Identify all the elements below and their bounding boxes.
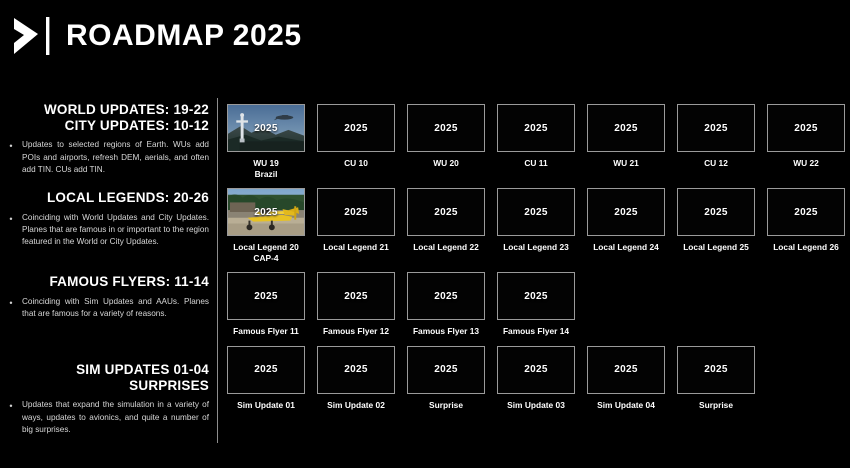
card-caption: Famous Flyer 11 bbox=[227, 326, 305, 337]
card-caption: Sim Update 01 bbox=[227, 400, 305, 411]
legend-body: • Updates that expand the simulation in … bbox=[0, 399, 213, 436]
card-year-label: 2025 bbox=[434, 123, 457, 134]
card-year-label: 2025 bbox=[794, 207, 817, 218]
legend-heading: LOCAL LEGENDS: 20-26 bbox=[0, 190, 213, 206]
card-year-label: 2025 bbox=[614, 123, 637, 134]
card-year-label: 2025 bbox=[704, 207, 727, 218]
card-caption: CU 11 bbox=[497, 158, 575, 169]
roadmap-row: 2025Famous Flyer 112025Famous Flyer 1220… bbox=[227, 272, 843, 337]
card-caption: CU 12 bbox=[677, 158, 755, 169]
legend-heading: FAMOUS FLYERS: 11-14 bbox=[0, 274, 213, 290]
legend-block-sim-updates-surprises: SIM UPDATES 01-04 SURPRISES • Updates th… bbox=[0, 362, 213, 436]
column-divider bbox=[217, 98, 218, 443]
card-caption: Local Legend 24 bbox=[587, 242, 665, 253]
card-caption: Famous Flyer 14 bbox=[497, 326, 575, 337]
card-year-label: 2025 bbox=[434, 291, 457, 302]
roadmap-card[interactable]: 2025Surprise bbox=[407, 346, 485, 411]
legend-column: WORLD UPDATES: 19-22 CITY UPDATES: 10-12… bbox=[0, 96, 213, 452]
card-thumbnail[interactable]: 2025 bbox=[227, 104, 305, 152]
card-year-label: 2025 bbox=[344, 291, 367, 302]
legend-description: Coinciding with World Updates and City U… bbox=[22, 212, 209, 249]
card-thumbnail[interactable]: 2025 bbox=[587, 346, 665, 394]
card-caption: Sim Update 04 bbox=[587, 400, 665, 411]
card-thumbnail[interactable]: 2025 bbox=[407, 104, 485, 152]
roadmap-card[interactable]: 2025Local Legend 20CAP-4 bbox=[227, 188, 305, 263]
page-title: ROADMAP 2025 bbox=[66, 21, 302, 51]
roadmap-card[interactable]: 2025WU 22 bbox=[767, 104, 845, 179]
card-year-label: 2025 bbox=[254, 291, 277, 302]
card-caption: Surprise bbox=[677, 400, 755, 411]
chevron-play-logo-icon bbox=[8, 14, 54, 58]
card-thumbnail[interactable]: 2025 bbox=[497, 272, 575, 320]
roadmap-row: 2025Sim Update 012025Sim Update 022025Su… bbox=[227, 346, 843, 411]
roadmap-card[interactable]: 2025CU 10 bbox=[317, 104, 395, 179]
roadmap-card[interactable]: 2025Local Legend 26 bbox=[767, 188, 845, 263]
card-year-label: 2025 bbox=[344, 207, 367, 218]
card-caption: Local Legend 26 bbox=[767, 242, 845, 253]
bullet-icon: • bbox=[0, 296, 22, 321]
roadmap-card[interactable]: 2025CU 11 bbox=[497, 104, 575, 179]
roadmap-card[interactable]: 2025Local Legend 24 bbox=[587, 188, 665, 263]
roadmap-card[interactable]: 2025WU 19Brazil bbox=[227, 104, 305, 179]
card-caption: CU 10 bbox=[317, 158, 395, 169]
roadmap-card[interactable]: 2025Famous Flyer 11 bbox=[227, 272, 305, 337]
card-thumbnail[interactable]: 2025 bbox=[317, 346, 395, 394]
legend-description: Coinciding with Sim Updates and AAUs. Pl… bbox=[22, 296, 209, 321]
card-year-label: 2025 bbox=[614, 364, 637, 375]
roadmap-card[interactable]: 2025Surprise bbox=[677, 346, 755, 411]
card-caption: Local Legend 25 bbox=[677, 242, 755, 253]
card-caption: Local Legend 21 bbox=[317, 242, 395, 253]
legend-heading: SIM UPDATES 01-04 SURPRISES bbox=[0, 362, 213, 393]
legend-heading-line: SIM UPDATES 01-04 bbox=[0, 362, 209, 378]
legend-heading: WORLD UPDATES: 19-22 CITY UPDATES: 10-12 bbox=[0, 102, 213, 133]
card-thumbnail[interactable]: 2025 bbox=[317, 104, 395, 152]
roadmap-card[interactable]: 2025CU 12 bbox=[677, 104, 755, 179]
card-year-label: 2025 bbox=[254, 123, 277, 134]
card-thumbnail[interactable]: 2025 bbox=[227, 346, 305, 394]
card-caption: Local Legend 22 bbox=[407, 242, 485, 253]
card-year-label: 2025 bbox=[344, 364, 367, 375]
card-year-label: 2025 bbox=[704, 123, 727, 134]
card-subcaption: Brazil bbox=[227, 169, 305, 180]
roadmap-row: 2025Local Legend 20CAP-42025Local Legend… bbox=[227, 188, 843, 263]
roadmap-card[interactable]: 2025WU 21 bbox=[587, 104, 665, 179]
roadmap-grid: 2025WU 19Brazil2025CU 102025WU 202025CU … bbox=[227, 104, 843, 419]
legend-description: Updates that expand the simulation in a … bbox=[22, 399, 209, 436]
roadmap-card[interactable]: 2025Local Legend 21 bbox=[317, 188, 395, 263]
card-year-label: 2025 bbox=[794, 123, 817, 134]
legend-body: • Coinciding with World Updates and City… bbox=[0, 212, 213, 249]
card-year-label: 2025 bbox=[254, 364, 277, 375]
card-caption: Surprise bbox=[407, 400, 485, 411]
card-year-label: 2025 bbox=[434, 207, 457, 218]
legend-heading-line: SURPRISES bbox=[0, 378, 209, 394]
roadmap-card[interactable]: 2025Sim Update 01 bbox=[227, 346, 305, 411]
roadmap-row: 2025WU 19Brazil2025CU 102025WU 202025CU … bbox=[227, 104, 843, 179]
card-caption: Sim Update 03 bbox=[497, 400, 575, 411]
card-caption: WU 19Brazil bbox=[227, 158, 305, 179]
roadmap-card[interactable]: 2025Local Legend 25 bbox=[677, 188, 755, 263]
roadmap-card[interactable]: 2025WU 20 bbox=[407, 104, 485, 179]
card-thumbnail[interactable]: 2025 bbox=[497, 346, 575, 394]
bullet-icon: • bbox=[0, 139, 22, 176]
card-thumbnail[interactable]: 2025 bbox=[767, 188, 845, 236]
legend-body: • Coinciding with Sim Updates and AAUs. … bbox=[0, 296, 213, 321]
card-year-label: 2025 bbox=[524, 207, 547, 218]
card-caption: Famous Flyer 13 bbox=[407, 326, 485, 337]
roadmap-card[interactable]: 2025Sim Update 02 bbox=[317, 346, 395, 411]
legend-block-world-city-updates: WORLD UPDATES: 19-22 CITY UPDATES: 10-12… bbox=[0, 102, 213, 176]
legend-block-local-legends: LOCAL LEGENDS: 20-26 • Coinciding with W… bbox=[0, 190, 213, 249]
page-header: ROADMAP 2025 bbox=[0, 0, 850, 72]
legend-body: • Updates to selected regions of Earth. … bbox=[0, 139, 213, 176]
card-year-label: 2025 bbox=[344, 123, 367, 134]
card-thumbnail[interactable]: 2025 bbox=[677, 104, 755, 152]
card-year-label: 2025 bbox=[704, 364, 727, 375]
roadmap-card[interactable]: 2025Sim Update 03 bbox=[497, 346, 575, 411]
card-thumbnail[interactable]: 2025 bbox=[227, 272, 305, 320]
card-year-label: 2025 bbox=[524, 291, 547, 302]
bullet-icon: • bbox=[0, 212, 22, 249]
legend-description: Updates to selected regions of Earth. WU… bbox=[22, 139, 209, 176]
card-caption: WU 20 bbox=[407, 158, 485, 169]
legend-heading-line: LOCAL LEGENDS: 20-26 bbox=[0, 190, 209, 206]
card-year-label: 2025 bbox=[254, 207, 277, 218]
roadmap-card[interactable]: 2025Sim Update 04 bbox=[587, 346, 665, 411]
roadmap-card[interactable]: 2025Famous Flyer 12 bbox=[317, 272, 395, 337]
card-thumbnail[interactable]: 2025 bbox=[677, 188, 755, 236]
card-caption: Local Legend 20CAP-4 bbox=[227, 242, 305, 263]
card-year-label: 2025 bbox=[614, 207, 637, 218]
roadmap-card[interactable]: 2025Local Legend 23 bbox=[497, 188, 575, 263]
card-year-label: 2025 bbox=[524, 364, 547, 375]
roadmap-card[interactable]: 2025Local Legend 22 bbox=[407, 188, 485, 263]
legend-heading-line: CITY UPDATES: 10-12 bbox=[0, 118, 209, 134]
card-thumbnail[interactable]: 2025 bbox=[407, 346, 485, 394]
card-subcaption: CAP-4 bbox=[227, 253, 305, 264]
card-thumbnail[interactable]: 2025 bbox=[497, 188, 575, 236]
card-caption: Sim Update 02 bbox=[317, 400, 395, 411]
card-thumbnail[interactable]: 2025 bbox=[317, 272, 395, 320]
card-thumbnail[interactable]: 2025 bbox=[497, 104, 575, 152]
card-thumbnail[interactable]: 2025 bbox=[587, 104, 665, 152]
card-caption: WU 21 bbox=[587, 158, 665, 169]
card-thumbnail[interactable]: 2025 bbox=[407, 188, 485, 236]
bullet-icon: • bbox=[0, 399, 22, 436]
roadmap-card[interactable]: 2025Famous Flyer 14 bbox=[497, 272, 575, 337]
legend-heading-line: FAMOUS FLYERS: 11-14 bbox=[0, 274, 209, 290]
card-caption: Local Legend 23 bbox=[497, 242, 575, 253]
roadmap-card[interactable]: 2025Famous Flyer 13 bbox=[407, 272, 485, 337]
card-year-label: 2025 bbox=[524, 123, 547, 134]
card-year-label: 2025 bbox=[434, 364, 457, 375]
card-thumbnail[interactable]: 2025 bbox=[317, 188, 395, 236]
card-thumbnail[interactable]: 2025 bbox=[587, 188, 665, 236]
legend-heading-line: WORLD UPDATES: 19-22 bbox=[0, 102, 209, 118]
card-caption: Famous Flyer 12 bbox=[317, 326, 395, 337]
card-thumbnail[interactable]: 2025 bbox=[767, 104, 845, 152]
card-thumbnail[interactable]: 2025 bbox=[407, 272, 485, 320]
card-caption: WU 22 bbox=[767, 158, 845, 169]
card-thumbnail[interactable]: 2025 bbox=[227, 188, 305, 236]
legend-block-famous-flyers: FAMOUS FLYERS: 11-14 • Coinciding with S… bbox=[0, 274, 213, 320]
card-thumbnail[interactable]: 2025 bbox=[677, 346, 755, 394]
